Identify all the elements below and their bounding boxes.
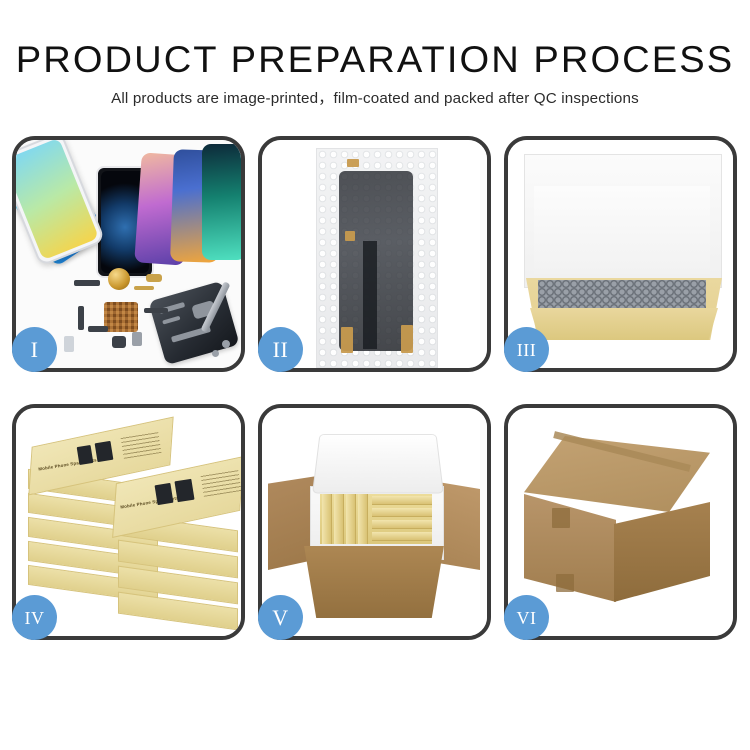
box-label-image <box>77 445 94 465</box>
flex-cable <box>363 241 377 349</box>
yellow-box-front <box>530 308 718 340</box>
tape-piece <box>341 327 353 353</box>
small-part <box>144 308 168 313</box>
foam-cooler-lid <box>312 434 444 494</box>
step-badge-6: VI <box>504 595 549 640</box>
tape-piece <box>345 231 355 241</box>
step-panel-5: V <box>258 404 491 640</box>
step-badge-2: II <box>258 327 303 372</box>
foam-sheet <box>534 186 710 274</box>
box-edge <box>372 532 432 541</box>
carton-right-face <box>614 502 710 602</box>
small-part <box>74 280 100 286</box>
small-part <box>78 306 84 330</box>
small-part <box>134 286 154 290</box>
box-label-image <box>174 479 194 502</box>
small-part <box>88 326 108 332</box>
product-preparation-infographic: PRODUCT PREPARATION PROCESS All products… <box>0 0 750 750</box>
box-label-image <box>155 483 174 505</box>
page-subtitle: All products are image-printed，film-coat… <box>0 89 750 109</box>
box-edge <box>358 494 368 544</box>
tape-piece <box>347 159 359 167</box>
box-edge <box>322 494 332 544</box>
box-edge <box>346 494 356 544</box>
step-panel-4: Mobile Phone Spare Parts Mobile Phone Sp… <box>12 404 245 640</box>
step-panel-2: II <box>258 136 491 372</box>
step-panel-1: I <box>12 136 245 372</box>
yellow-boxes-inside <box>320 494 432 544</box>
box-label-image <box>95 441 114 462</box>
gold-coil-part <box>108 268 130 290</box>
bubble-wrap-bag <box>316 148 438 368</box>
chip-grid-part <box>104 302 138 332</box>
phone-front-large <box>16 140 106 267</box>
small-part <box>222 340 230 348</box>
carton-front-panel <box>298 546 450 618</box>
phone-teal <box>202 144 241 260</box>
small-part <box>64 336 74 352</box>
box-edge <box>372 508 432 517</box>
step-badge-4: IV <box>12 595 57 640</box>
small-part <box>212 350 219 357</box>
step-badge-1: I <box>12 327 57 372</box>
box-edge <box>372 496 432 505</box>
small-part <box>132 332 142 346</box>
carton-tape <box>556 574 574 592</box>
header: PRODUCT PREPARATION PROCESS All products… <box>0 38 750 109</box>
tape-piece <box>401 325 413 353</box>
step-badge-5: V <box>258 595 303 640</box>
page-title: PRODUCT PREPARATION PROCESS <box>0 38 750 82</box>
box-edge <box>334 494 344 544</box>
step-badge-3: III <box>504 327 549 372</box>
small-part <box>112 336 126 348</box>
step-panel-3: III <box>504 136 737 372</box>
process-steps-grid: I II <box>12 136 738 676</box>
step-panel-6: VI <box>504 404 737 640</box>
box-stack: Mobile Phone Spare Parts Mobile Phone Sp… <box>26 426 236 622</box>
carton-tape <box>552 508 570 528</box>
small-part <box>146 274 162 282</box>
box-edge <box>372 520 432 529</box>
